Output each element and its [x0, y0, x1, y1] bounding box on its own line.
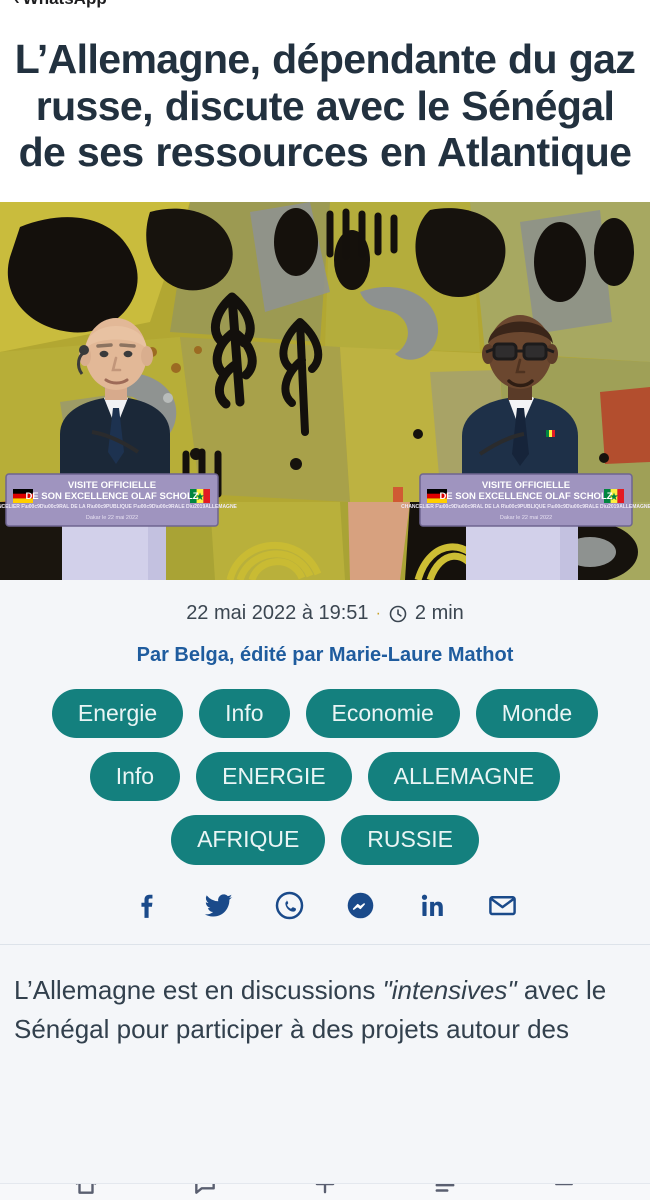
social-share-bar — [0, 889, 650, 944]
svg-text:CHANCELIER F\u00c9D\u00c9RAL D: CHANCELIER F\u00c9D\u00c9RAL DE LA R\u00… — [0, 504, 238, 510]
tag-energie[interactable]: Energie — [52, 689, 183, 738]
tag-row-1: Energie Info Economie Monde — [24, 689, 626, 738]
article-meta: 22 mai 2022 à 19:51 · 2 min — [0, 602, 650, 625]
svg-text:Dakar le 22 mai 2022: Dakar le 22 mai 2022 — [500, 515, 552, 521]
tag-list: Energie Info Economie Monde Info ENERGIE… — [0, 689, 650, 864]
svg-text:CHANCELIER F\u00c9D\u00c9RAL D: CHANCELIER F\u00c9D\u00c9RAL DE LA R\u00… — [401, 504, 650, 510]
svg-text:DE SON EXCELLENCE OLAF SCHOLZ: DE SON EXCELLENCE OLAF SCHOLZ — [439, 491, 612, 502]
email-icon[interactable] — [486, 889, 519, 922]
tag-info[interactable]: Info — [199, 689, 289, 738]
meta-separator-dot: · — [376, 606, 381, 622]
linkedin-icon[interactable] — [415, 889, 448, 922]
back-link-label: WhatsApp — [23, 0, 107, 8]
svg-text:VISITE OFFICIELLE: VISITE OFFICIELLE — [68, 480, 156, 491]
article-screen: ‹WhatsApp L’Allemagne, dépendante du gaz… — [0, 0, 650, 1200]
status-bar: ‹WhatsApp — [0, 0, 650, 14]
clock-icon — [388, 604, 408, 624]
back-caret-icon: ‹ — [14, 0, 20, 9]
tag-monde[interactable]: Monde — [476, 689, 598, 738]
nav-item-home[interactable] — [59, 1184, 113, 1197]
body-text-emphasis: "intensives" — [383, 975, 517, 1005]
nav-item-chat[interactable] — [178, 1184, 232, 1197]
whatsapp-icon[interactable] — [273, 889, 306, 922]
podium-sign-right: VISITE OFFICIELLE DE SON EXCELLENCE OLAF… — [401, 474, 650, 526]
tag-afrique[interactable]: AFRIQUE — [171, 815, 325, 864]
home-icon — [73, 1183, 99, 1197]
tag-info-2[interactable]: Info — [90, 752, 180, 801]
read-time: 2 min — [415, 602, 464, 625]
compass-icon — [312, 1183, 338, 1197]
tag-row-2: Info ENERGIE ALLEMAGNE — [24, 752, 626, 801]
tag-row-3: AFRIQUE RUSSIE — [24, 815, 626, 864]
bottom-navigation-bar — [0, 1183, 650, 1200]
nav-item-lists[interactable] — [418, 1184, 472, 1197]
tag-energie-caps[interactable]: ENERGIE — [196, 752, 352, 801]
publish-date: 22 mai 2022 à 19:51 — [186, 602, 368, 625]
facebook-icon[interactable] — [131, 889, 164, 922]
svg-text:VISITE OFFICIELLE: VISITE OFFICIELLE — [482, 480, 570, 491]
more-icon — [551, 1183, 577, 1197]
twitter-icon[interactable] — [202, 889, 235, 922]
nav-item-more[interactable] — [537, 1184, 591, 1197]
page-title: L’Allemagne, dépendante du gaz russe, di… — [14, 36, 636, 176]
article-body: L’Allemagne est en discussions "intensiv… — [0, 945, 650, 1050]
back-to-whatsapp-link[interactable]: ‹WhatsApp — [14, 0, 107, 9]
hero-image: VISITE OFFICIELLE DE SON EXCELLENCE OLAF… — [0, 202, 650, 580]
byline[interactable]: Par Belga, édité par Marie-Laure Mathot — [0, 644, 650, 667]
hero-illustration: VISITE OFFICIELLE DE SON EXCELLENCE OLAF… — [0, 202, 650, 580]
svg-text:Dakar le 22 mai 2022: Dakar le 22 mai 2022 — [86, 515, 138, 521]
body-text-part1: L’Allemagne est en discussions — [14, 975, 383, 1005]
chat-icon — [192, 1183, 218, 1197]
messenger-icon[interactable] — [344, 889, 377, 922]
headline-section: L’Allemagne, dépendante du gaz russe, di… — [0, 14, 650, 202]
tag-russie[interactable]: RUSSIE — [341, 815, 479, 864]
tag-economie[interactable]: Economie — [306, 689, 460, 738]
podium-sign-left: VISITE OFFICIELLE DE SON EXCELLENCE OLAF… — [0, 474, 238, 526]
nav-item-discover[interactable] — [298, 1184, 352, 1197]
tag-allemagne[interactable]: ALLEMAGNE — [368, 752, 561, 801]
list-icon — [432, 1183, 458, 1197]
svg-text:DE SON EXCELLENCE OLAF SCHOLZ: DE SON EXCELLENCE OLAF SCHOLZ — [25, 491, 198, 502]
